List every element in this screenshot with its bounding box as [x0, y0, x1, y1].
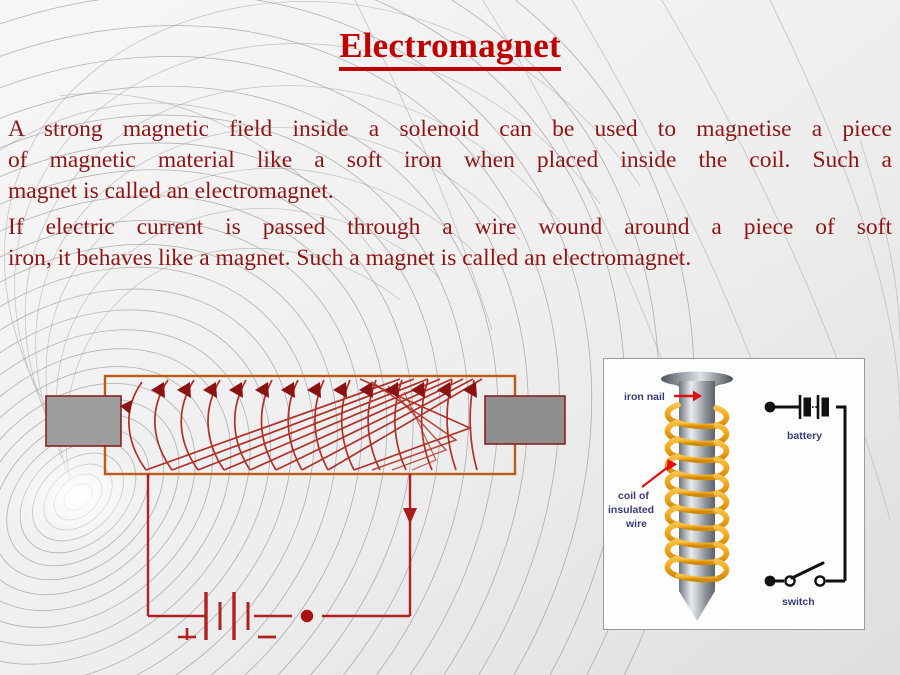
label-switch: switch: [782, 596, 815, 608]
slide-canvas: Electromagnet A strong magnetic field in…: [0, 0, 900, 675]
junction-dot-top: [765, 402, 776, 413]
solenoid-circuit-diagram: [0, 330, 600, 640]
label-battery: battery: [787, 430, 822, 442]
label-coil-line-3: wire: [625, 518, 647, 530]
iron-nail-electromagnet-inset: iron nail coil of insulated wire battery…: [603, 358, 865, 630]
paragraph-2-line-1: If electric current is passed through a …: [8, 212, 892, 243]
junction-dot-bottom: [765, 576, 776, 587]
paragraph-1-line-2: of magnetic material like a soft iron wh…: [8, 145, 892, 176]
paragraph-2-line-2: iron, it behaves like a magnet. Such a m…: [8, 243, 892, 274]
paragraph-1-line-3: magnet is called an electromagnet.: [8, 176, 892, 207]
label-coil-line-2: insulated: [608, 504, 654, 516]
battery-plus-sign: [178, 628, 196, 640]
pole-block-left: [46, 396, 121, 446]
paragraph-1: A strong magnetic field inside a solenoi…: [8, 114, 892, 207]
label-iron-nail: iron nail: [624, 391, 665, 403]
circuit-terminal-dot: [301, 610, 313, 622]
paragraph-1-line-1: A strong magnetic field inside a solenoi…: [8, 114, 892, 145]
paragraph-2: If electric current is passed through a …: [8, 212, 892, 274]
circuit-wiring: [148, 474, 410, 616]
battery-symbol: [206, 592, 248, 640]
current-direction-arrow: [403, 508, 417, 524]
slide-title-text: Electromagnet: [339, 26, 561, 71]
pole-block-right: [485, 396, 565, 444]
label-coil-line-1: coil of: [618, 490, 649, 502]
slide-title: Electromagnet: [0, 26, 900, 71]
